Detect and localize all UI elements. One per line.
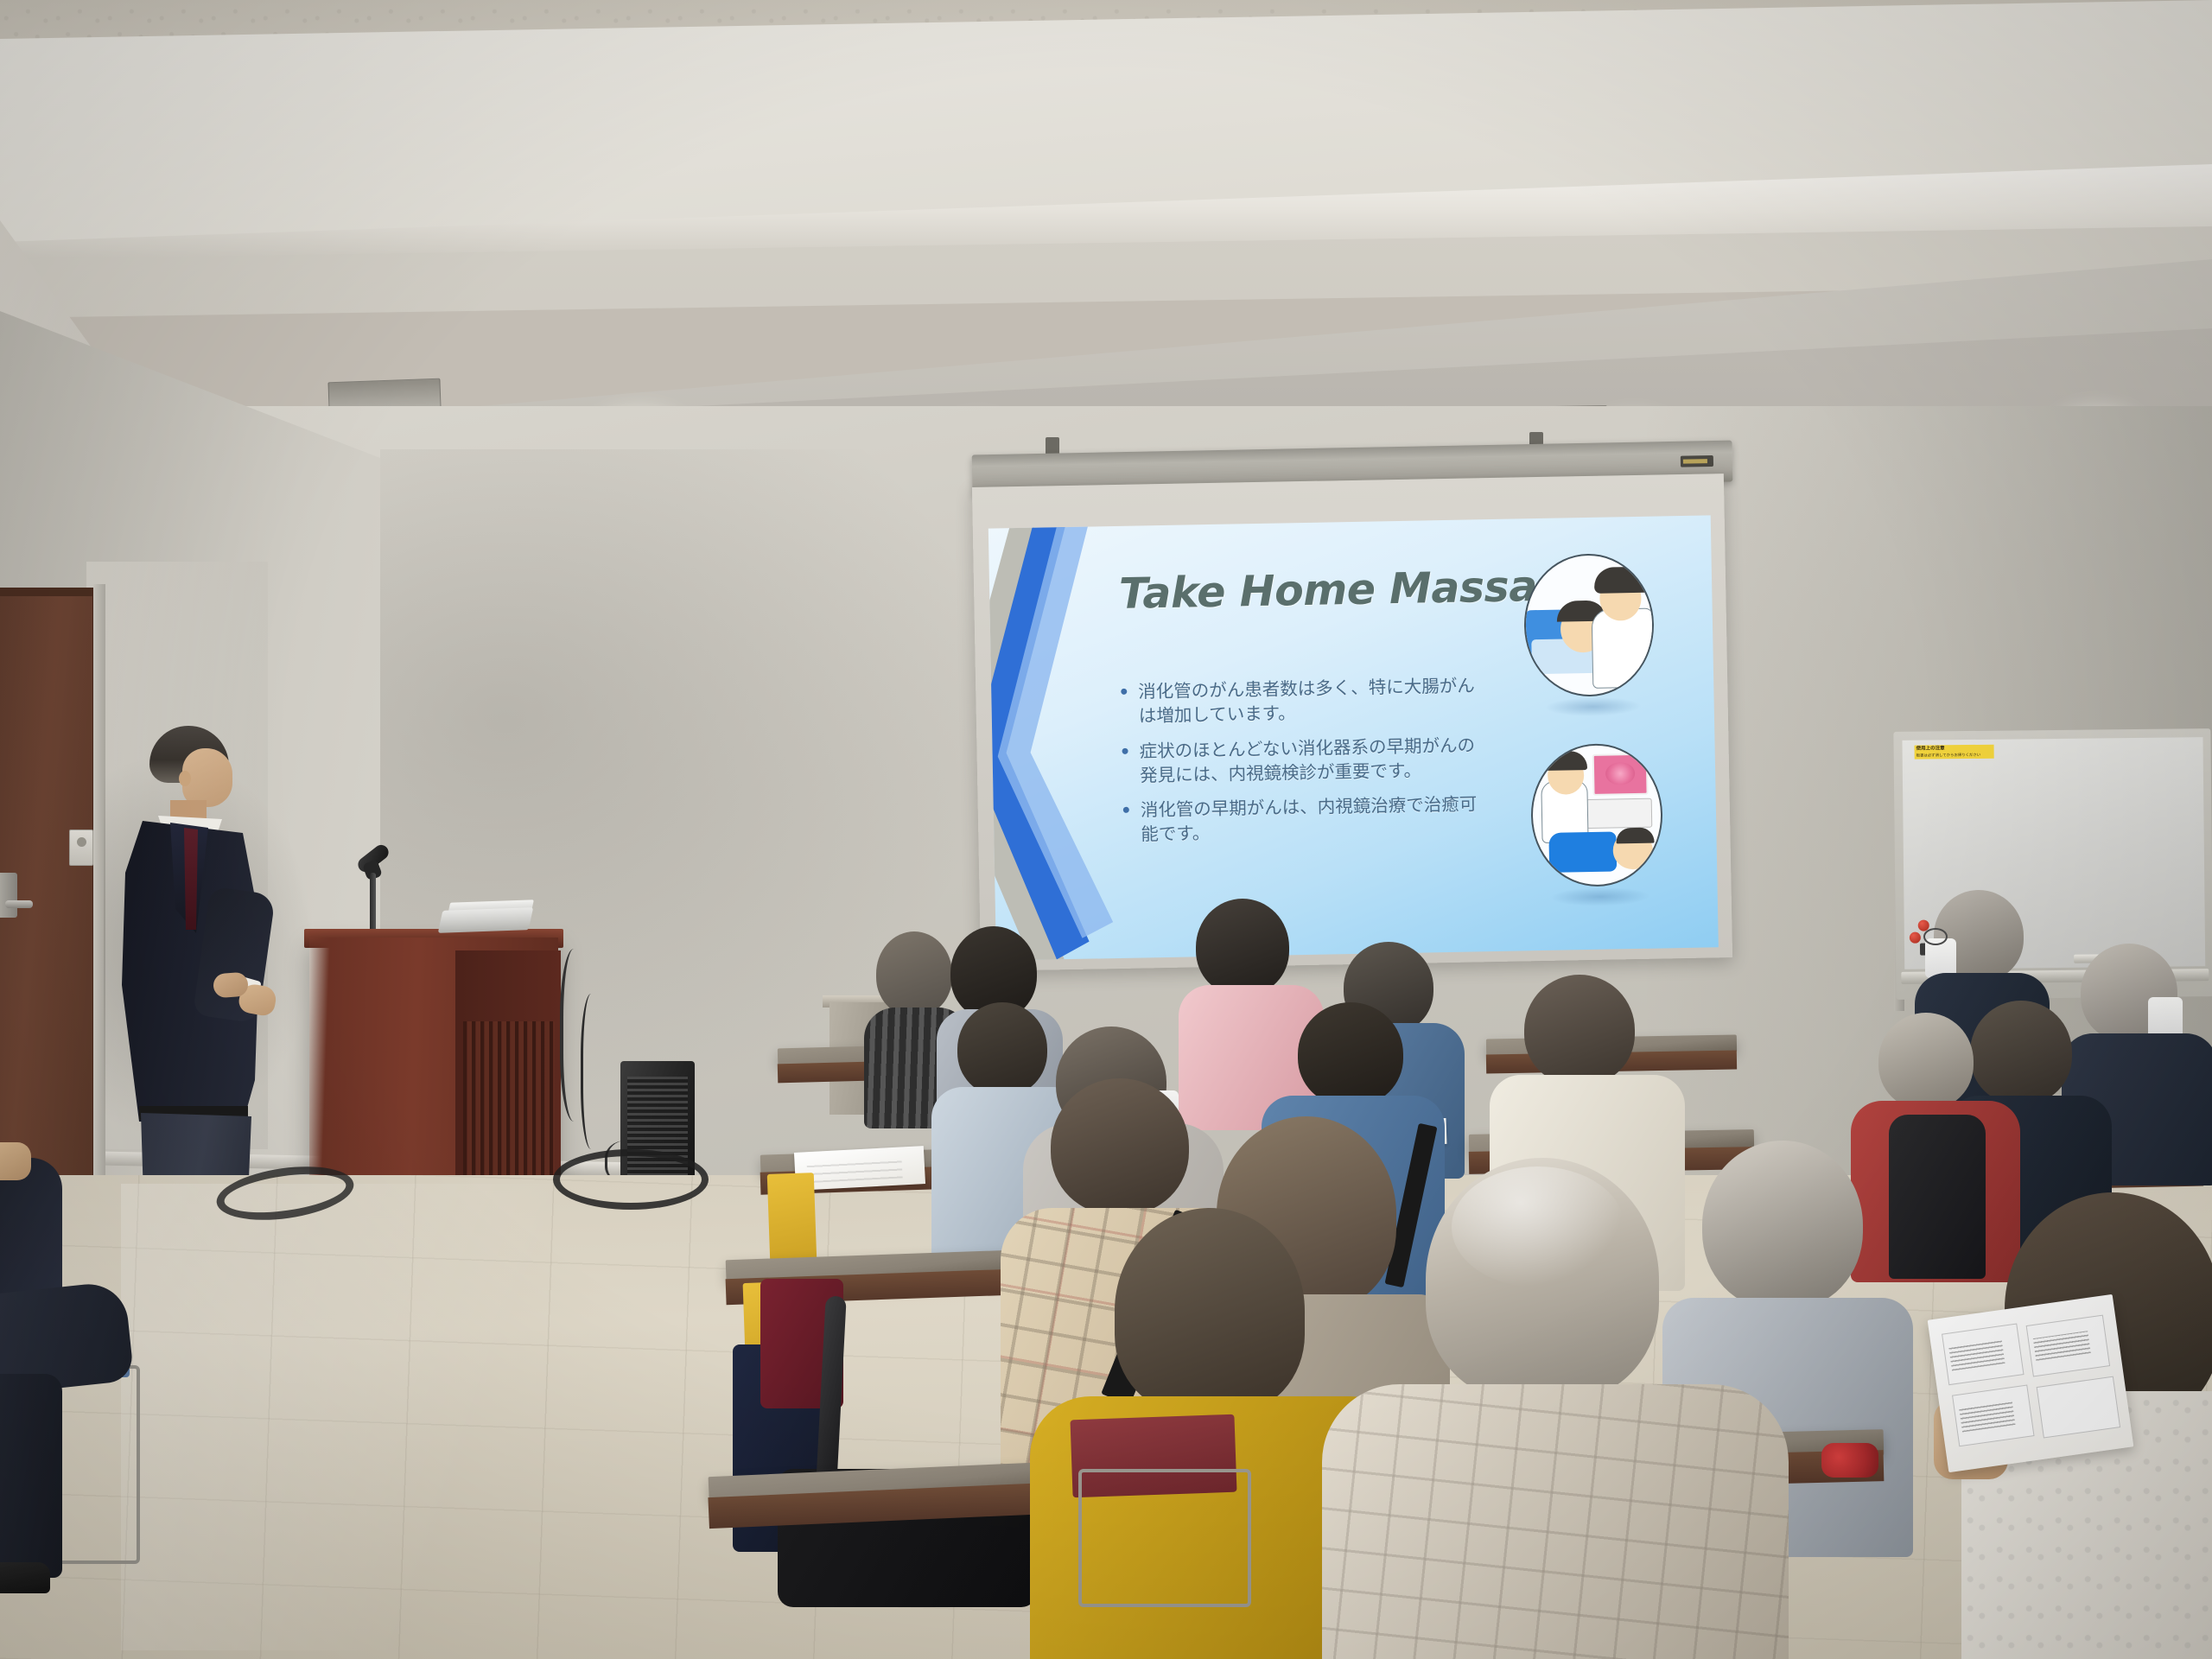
laptop[interactable]: [438, 907, 533, 933]
attendee-head: [1051, 1078, 1189, 1215]
endoscopy-monitor: [1592, 753, 1649, 796]
illustration-doctor-examining-patient: [1522, 553, 1655, 698]
illustration-1-shadow: [1545, 696, 1642, 717]
attendee-head: [876, 931, 952, 1016]
endoscopist-hair: [1544, 751, 1587, 771]
podium-cable-2: [581, 994, 607, 1149]
illustration-endoscopy-procedure: [1530, 742, 1664, 887]
coiled-cable-podium: [553, 1149, 709, 1210]
projection-screen: Take Home Massage 消化管のがん患者数は多く、特に大腸がんは増加…: [972, 474, 1732, 971]
attendee-face-mask: [2148, 997, 2183, 1039]
attendee-head-highlight: [1452, 1166, 1624, 1287]
light-switch-plate[interactable]: [69, 829, 93, 866]
attendee-head: [1196, 899, 1289, 995]
handout-text-lines: [806, 1155, 902, 1183]
slide-bullet-2: 症状のほとんどない消化器系の早期がんの発見には、内視鏡検診が重要です。: [1120, 733, 1492, 788]
door-handle-lever[interactable]: [5, 900, 33, 908]
attendee-left-lower-leg: [0, 1374, 62, 1578]
illustration-2-shadow: [1550, 887, 1650, 907]
whiteboard-magnet-2[interactable]: [1910, 932, 1921, 944]
whiteboard-warning-sticker: 使用上の注意 板書は必ず消してからお帰りください: [1915, 745, 1994, 760]
lecture-hall-photo: Take Home Massage 消化管のがん患者数は多く、特に大腸がんは増加…: [0, 0, 2212, 1659]
door-frame: [93, 584, 105, 1203]
attendee-left-hand: [0, 1142, 31, 1180]
attendee-vest-overlay: [1889, 1115, 1986, 1279]
slide-title: Take Home Massage: [1119, 561, 1596, 619]
checked-pattern: [1322, 1384, 1789, 1659]
attendee-head: [1970, 1001, 2072, 1104]
presenter-ear: [179, 771, 191, 786]
attendee-glasses: [1923, 928, 1948, 945]
slide-bullet-1: 消化管のがん患者数は多く、特に大腸がんは増加しています。: [1119, 673, 1491, 728]
door-handle-plate[interactable]: [0, 873, 17, 918]
presentation-slide: Take Home Massage 消化管のがん患者数は多く、特に大腸がんは増加…: [988, 515, 1719, 960]
flower-decoration: [1821, 1443, 1878, 1478]
attendee-head: [1298, 1002, 1403, 1106]
slide-bullet-3: 消化管の早期がんは、内視鏡治療で治癒可能です。: [1122, 791, 1494, 847]
screen-brand-badge: [1681, 455, 1713, 467]
handout-thumbnail-4: [2037, 1376, 2120, 1439]
attendee-head: [957, 1002, 1047, 1096]
attendee-foreground-left: [0, 1158, 147, 1642]
chair-frame-front: [1078, 1469, 1251, 1607]
doctor-hair: [1594, 567, 1649, 594]
endoscopy-machine: [1586, 798, 1653, 829]
endoscopy-patient-hair: [1616, 828, 1654, 844]
attendee-head: [1878, 1013, 1974, 1109]
sticker-sub: 板書は必ず消してからお帰りください: [1916, 752, 1993, 759]
handout-held-by-attendee[interactable]: [1928, 1294, 2134, 1472]
attendee-head: [1702, 1141, 1863, 1310]
attendee-left-shoe: [0, 1562, 50, 1593]
attendee-head: [1524, 975, 1635, 1085]
slide-bullet-list: 消化管のがん患者数は多く、特に大腸がんは増加しています。 症状のほとんどない消化…: [1119, 673, 1494, 858]
patient-body-blue: [1548, 831, 1617, 872]
attendee-head: [1115, 1208, 1305, 1414]
floor-reflection: [121, 1184, 709, 1650]
